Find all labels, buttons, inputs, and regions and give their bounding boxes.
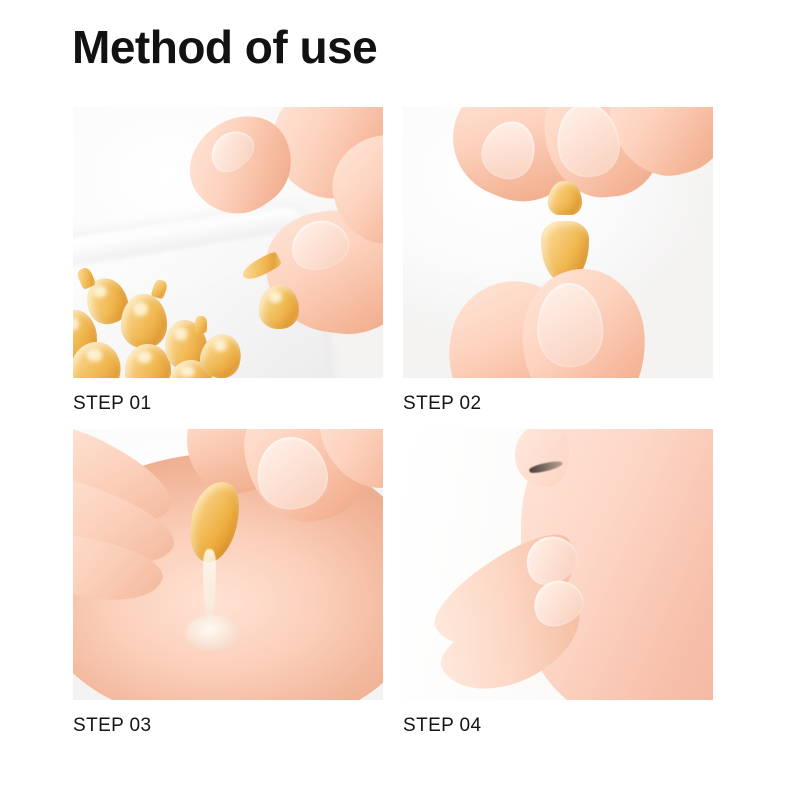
step-label-04: STEP 04 bbox=[403, 713, 713, 739]
step-cell-04: STEP 04 bbox=[403, 429, 713, 739]
step-cell-01: STEP 01 bbox=[73, 107, 383, 417]
step-image-03 bbox=[73, 429, 383, 700]
serum-pool bbox=[185, 615, 239, 651]
single-capsule bbox=[259, 275, 303, 323]
capsule-cap bbox=[548, 181, 582, 215]
step-cell-03: STEP 03 bbox=[73, 429, 383, 739]
step-cell-02: STEP 02 bbox=[403, 107, 713, 417]
step-label-03: STEP 03 bbox=[73, 713, 383, 739]
step-label-01: STEP 01 bbox=[73, 391, 383, 417]
page-title: Method of use bbox=[72, 22, 377, 73]
step-label-02: STEP 02 bbox=[403, 391, 713, 417]
lower-hand bbox=[475, 257, 655, 378]
steps-grid: STEP 01 S bbox=[73, 107, 713, 739]
step-image-02 bbox=[403, 107, 713, 378]
step-image-01 bbox=[73, 107, 383, 378]
step-image-04 bbox=[403, 429, 713, 700]
method-of-use-page: Method of use bbox=[0, 0, 800, 800]
upper-hand bbox=[461, 107, 711, 211]
